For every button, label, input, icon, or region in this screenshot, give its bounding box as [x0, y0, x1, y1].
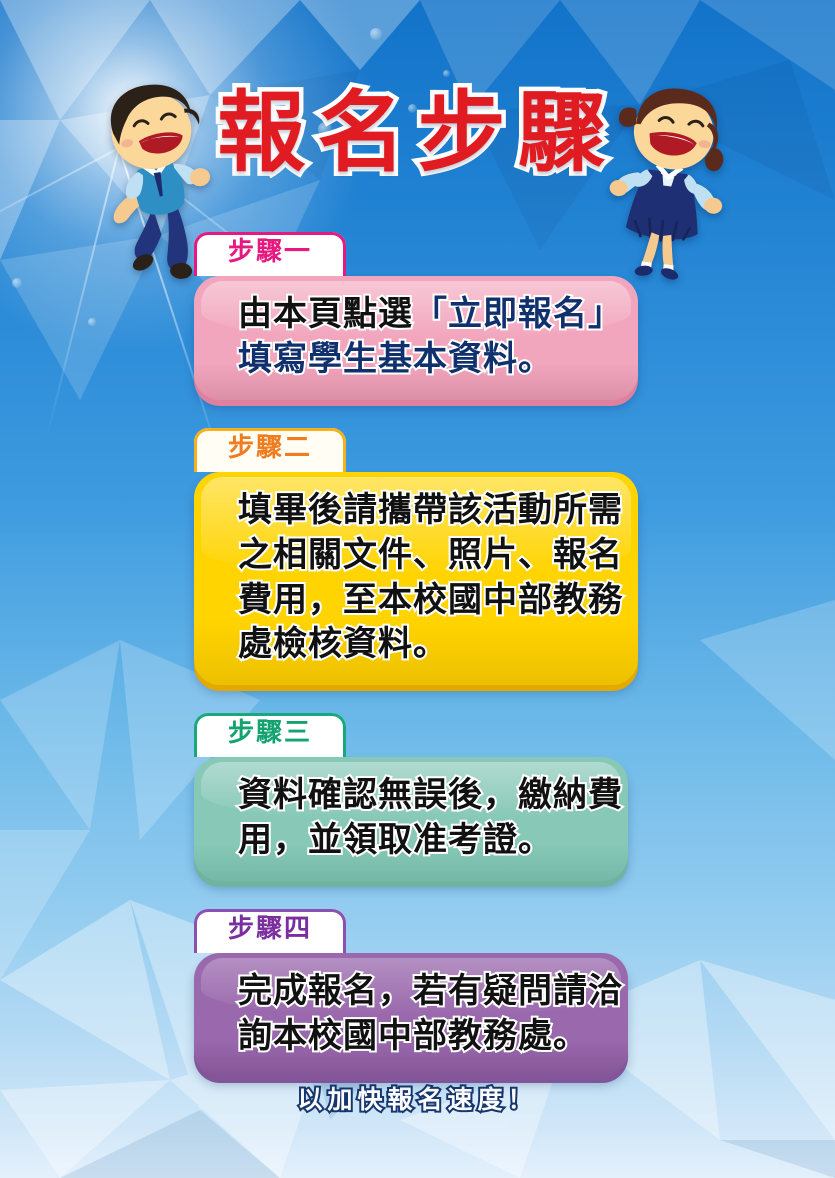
step-tab-label: 步驟二	[228, 435, 312, 461]
spacer	[0, 881, 835, 909]
step-tab-4[interactable]: 步驟四	[194, 909, 346, 953]
footer-line-2: 以加快報名速度！	[0, 1082, 835, 1118]
step-line: 由本頁點選「立即報名」	[238, 292, 620, 337]
step-line: 之相關文件、照片、報名	[238, 533, 620, 578]
spacer	[0, 400, 835, 428]
step-line: 處檢核資料。	[238, 622, 620, 667]
step-body-1: 由本頁點選「立即報名」 填寫學生基本資料。	[194, 276, 638, 400]
step-body-text: 填畢後請攜帶該活動所需 之相關文件、照片、報名 費用，至本校國中部教務 處檢核資…	[238, 488, 620, 668]
step-body-4: 完成報名，若有疑問請洽 詢本校國中部教務處。	[194, 953, 628, 1077]
step-line: 用，並領取准考證。	[238, 818, 610, 863]
step-body-text: 資料確認無誤後，繳納費 用，並領取准考證。	[238, 773, 610, 863]
step-tab-3[interactable]: 步驟三	[194, 713, 346, 757]
step-line: 填畢後請攜帶該活動所需	[238, 488, 620, 533]
step-line: 資料確認無誤後，繳納費	[238, 773, 610, 818]
spacer	[0, 685, 835, 713]
step-tab-label: 步驟三	[228, 720, 312, 746]
step-tab-2[interactable]: 步驟二	[194, 428, 346, 472]
step-item-3: 步驟三 資料確認無誤後，繳納費 用，並領取准考證。	[0, 713, 835, 881]
step-line-highlight: 「立即報名」	[413, 294, 623, 334]
step-body-3: 資料確認無誤後，繳納費 用，並領取准考證。	[194, 757, 628, 881]
bokeh-dot	[370, 28, 382, 40]
step-item-2: 步驟二 填畢後請攜帶該活動所需 之相關文件、照片、報名 費用，至本校國中部教務 …	[0, 428, 835, 686]
step-item-1: 步驟一 由本頁點選「立即報名」 填寫學生基本資料。	[0, 232, 835, 400]
step-body-text: 完成報名，若有疑問請洽 詢本校國中部教務處。	[238, 969, 610, 1059]
step-line: 填寫學生基本資料。	[238, 337, 620, 382]
step-tab-label: 步驟四	[228, 916, 312, 942]
step-body-text: 由本頁點選「立即報名」 填寫學生基本資料。	[238, 292, 620, 382]
step-line: 詢本校國中部教務處。	[238, 1014, 610, 1059]
steps-list: 步驟一 由本頁點選「立即報名」 填寫學生基本資料。 步驟二 填畢後請攜帶該活動所…	[0, 232, 835, 1077]
step-line: 費用，至本校國中部教務	[238, 578, 620, 623]
step-line: 完成報名，若有疑問請洽	[238, 969, 610, 1014]
step-tab-label: 步驟一	[228, 239, 312, 265]
poster-root: 報名步驟	[0, 0, 835, 1178]
step-line-plain: 由本頁點選	[238, 294, 413, 334]
step-body-2: 填畢後請攜帶該活動所需 之相關文件、照片、報名 費用，至本校國中部教務 處檢核資…	[194, 472, 638, 686]
step-tab-1[interactable]: 步驟一	[194, 232, 346, 276]
